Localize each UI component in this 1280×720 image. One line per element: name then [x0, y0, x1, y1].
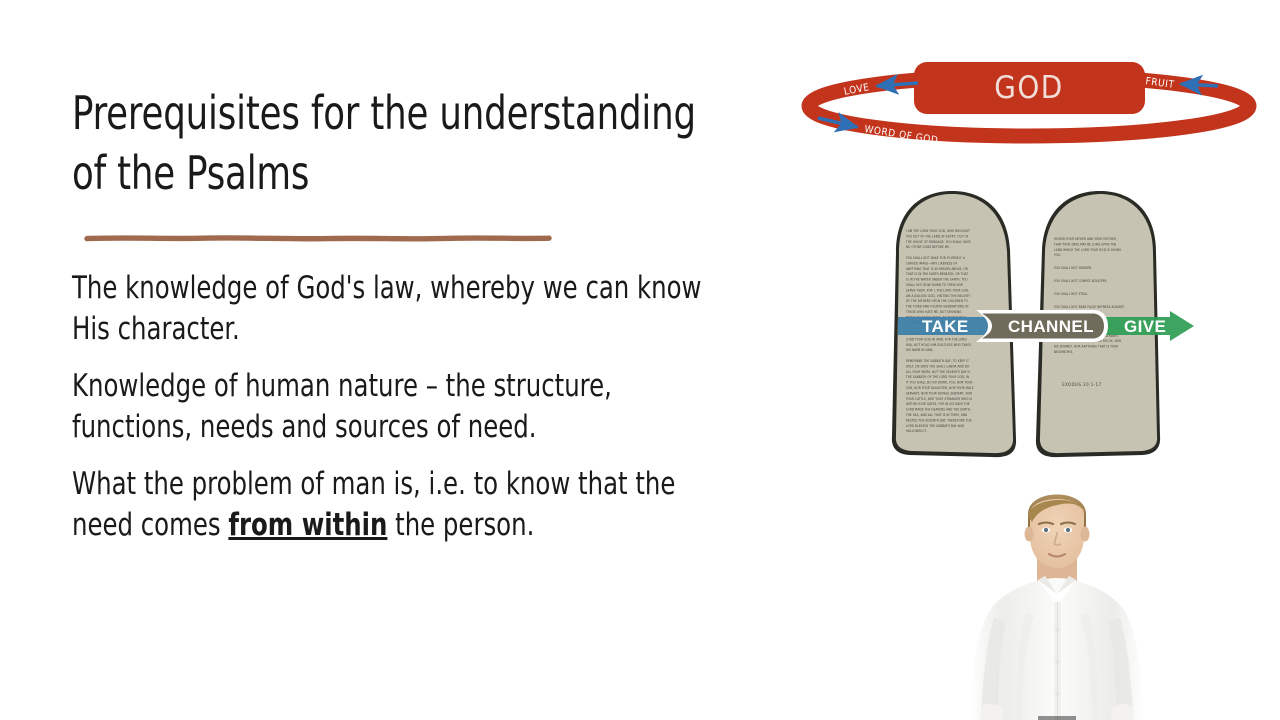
body-paragraph-1: The knowledge of God's law, whereby we c… [72, 268, 825, 349]
svg-text:NO OTHER GODS BEFORE ME.: NO OTHER GODS BEFORE ME. [906, 245, 950, 249]
channel-capsule: CHANNEL [976, 310, 1108, 342]
give-label: GIVE [1124, 317, 1166, 336]
paragraph-3-tail: the person. [387, 507, 534, 543]
svg-text:IT YOU SHALL DO NO WORK, YOU,: IT YOU SHALL DO NO WORK, YOU, NOR YOUR [906, 381, 973, 385]
svg-text:THE SABBATH OF THE LORD YOUR G: THE SABBATH OF THE LORD YOUR GOD. IN [906, 375, 969, 379]
take-label: TAKE [922, 317, 969, 336]
svg-text:SERVANT, NOR YOUR FEMALE SERVA: SERVANT, NOR YOUR FEMALE SERVANT, NOR [906, 391, 972, 395]
exodus-reference: EXODUS 20:1-17 [1062, 382, 1101, 388]
svg-text:ALL YOUR WORK, BUT THE SEVENTH: ALL YOUR WORK, BUT THE SEVENTH DAY IS [906, 370, 970, 374]
svg-text:I AM THE LORD YOUR GOD, WHO BR: I AM THE LORD YOUR GOD, WHO BROUGHT [906, 229, 970, 233]
body-paragraph-2: Knowledge of human nature – the structur… [72, 366, 825, 447]
svg-text:SON, NOR YOUR DAUGHTER, NOR YO: SON, NOR YOUR DAUGHTER, NOR YOUR MALE [906, 386, 974, 390]
god-cycle-diagram: GOD LOVE FRUIT WORD OF GOD [798, 48, 1260, 156]
svg-text:HIS NAME IN VAIN.: HIS NAME IN VAIN. [906, 348, 933, 352]
man-in-white-shirt-photo [942, 470, 1172, 720]
channel-label: CHANNEL [1008, 317, 1094, 336]
svg-text:AM A JEALOUS GOD, VISITING THE: AM A JEALOUS GOD, VISITING THE INIQUITY [906, 294, 971, 298]
svg-text:SERVE THEM. FOR I, THE LORD YO: SERVE THEM. FOR I, THE LORD YOUR GOD, [906, 288, 969, 292]
svg-text:LORD BLESSED THE SABBATH DAY A: LORD BLESSED THE SABBATH DAY AND [906, 424, 964, 428]
take-channel-give-banner: TAKE GIVE CHANNEL [898, 306, 1198, 346]
page-title: Prerequisites for the understanding of t… [72, 84, 700, 204]
svg-text:LAND WHICH THE LORD YOUR GOD I: LAND WHICH THE LORD YOUR GOD IS GIVING [1054, 248, 1121, 252]
svg-text:YOU SHALL NOT STEAL.: YOU SHALL NOT STEAL. [1054, 292, 1089, 296]
svg-text:LORD MADE THE HEAVENS AND THE: LORD MADE THE HEAVENS AND THE EARTH, [906, 408, 971, 412]
svg-text:YOU SHALL NOT MURDER.: YOU SHALL NOT MURDER. [1054, 266, 1092, 270]
title-divider-line [85, 234, 551, 242]
svg-text:REMEMBER THE SABBATH DAY, TO K: REMEMBER THE SABBATH DAY, TO KEEP IT [906, 359, 969, 363]
emphasis-from-within: from within [228, 507, 387, 543]
svg-text:THE SEA, AND ALL THAT IS IN TH: THE SEA, AND ALL THAT IS IN THEM, AND [906, 413, 967, 417]
svg-text:HONOR YOUR FATHER AND YOUR MOT: HONOR YOUR FATHER AND YOUR MOTHER, [1054, 237, 1117, 241]
svg-text:WITHIN YOUR GATES. FOR IN SIX: WITHIN YOUR GATES. FOR IN SIX DAYS THE [906, 402, 970, 406]
body-paragraph-3: What the problem of man is, i.e. to know… [72, 464, 825, 545]
god-label: GOD [994, 70, 1064, 106]
svg-text:OF THE FATHERS UPON THE CHILDR: OF THE FATHERS UPON THE CHILDREN TO [906, 299, 968, 303]
svg-text:YOU SHALL NOT COMMIT ADULTERY.: YOU SHALL NOT COMMIT ADULTERY. [1054, 279, 1107, 283]
svg-text:THAT YOUR DAYS MAY BE LONG UPO: THAT YOUR DAYS MAY BE LONG UPON THE [1054, 242, 1117, 246]
svg-text:YOU SHALL NOT MAKE FOR YOURSEL: YOU SHALL NOT MAKE FOR YOURSELF A [906, 256, 965, 260]
text-column: Prerequisites for the understanding of t… [72, 84, 802, 204]
svg-text:YOUR CATTLE, NOR YOUR STRANGER: YOUR CATTLE, NOR YOUR STRANGER WHO IS [906, 397, 972, 401]
svg-text:ANYTHING THAT IS IN HEAVEN ABO: ANYTHING THAT IS IN HEAVEN ABOVE, OR [906, 267, 968, 271]
svg-text:CARVED IMAGE—ANY LIKENESS OF: CARVED IMAGE—ANY LIKENESS OF [906, 261, 958, 265]
take-arrow-segment: TAKE [898, 317, 998, 336]
slide-canvas: Prerequisites for the understanding of t… [0, 0, 1280, 720]
give-arrow-segment: GIVE [1106, 311, 1194, 341]
svg-text:YOU.: YOU. [1054, 253, 1061, 257]
svg-text:YOU OUT OF THE LAND OF EGYPT,: YOU OUT OF THE LAND OF EGYPT, OUT OF [906, 234, 969, 238]
svg-text:SHALL NOT BOW DOWN TO THEM NOR: SHALL NOT BOW DOWN TO THEM NOR [906, 283, 963, 287]
fruit-arrow-icon [1181, 84, 1218, 86]
svg-text:RESTED THE SEVENTH DAY. THEREF: RESTED THE SEVENTH DAY. THEREFORE THE [906, 418, 972, 422]
svg-text:HOLY. SIX DAYS YOU SHALL LABOR: HOLY. SIX DAYS YOU SHALL LABOR AND DO [906, 364, 969, 368]
svg-text:THAT IS IN THE EARTH BENEATH,: THAT IS IN THE EARTH BENEATH, OR THAT [906, 272, 968, 276]
svg-text:HALLOWED IT.: HALLOWED IT. [906, 429, 927, 433]
svg-text:IS IN THE WATER UNDER THE EART: IS IN THE WATER UNDER THE EARTH; YOU [906, 278, 968, 282]
svg-text:THE HOUSE OF BONDAGE. YOU SHAL: THE HOUSE OF BONDAGE. YOU SHALL HAVE [906, 240, 971, 244]
body-paragraph-list: The knowledge of God's law, whereby we c… [72, 268, 932, 546]
svg-text:NEIGHBOR'S.: NEIGHBOR'S. [1054, 350, 1073, 354]
